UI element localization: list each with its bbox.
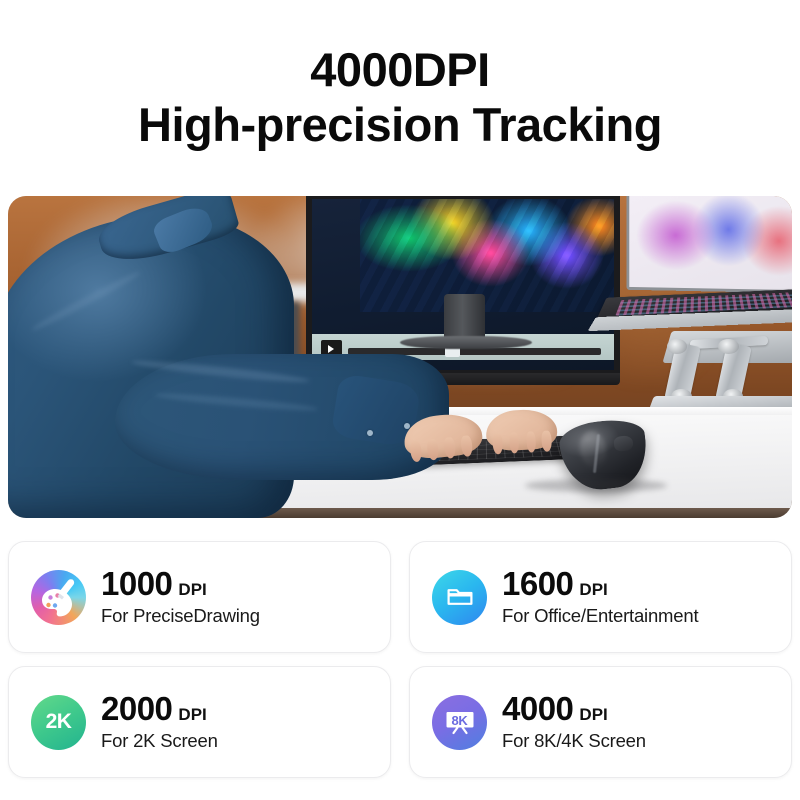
dpi-value: 1600: [502, 566, 573, 602]
palette-brush-icon: [31, 570, 86, 625]
monitor-stand-neck: [444, 294, 485, 342]
desk-scene-illustration: [8, 196, 792, 518]
dpi-subtitle: For 2K Screen: [101, 728, 218, 754]
stand-hinge-icon: [667, 339, 687, 354]
dpi-value: 1000: [101, 566, 172, 602]
dpi-card-1000[interactable]: 1000 DPI For PreciseDrawing: [8, 541, 391, 653]
dpi-card-text: 4000 DPI For 8K/4K Screen: [502, 691, 646, 754]
dpi-value-row: 4000 DPI: [502, 691, 646, 727]
dpi-value-row: 2000 DPI: [101, 691, 218, 727]
dpi-value: 2000: [101, 691, 172, 727]
dpi-unit: DPI: [579, 705, 607, 725]
headline-line-2: High-precision Tracking: [0, 97, 800, 152]
person: [8, 202, 400, 518]
dpi-value-row: 1600 DPI: [502, 566, 698, 602]
dpi-unit: DPI: [178, 580, 206, 600]
palette-brush-glyph: [31, 570, 86, 625]
dpi-value-row: 1000 DPI: [101, 566, 260, 602]
finger: [443, 436, 456, 459]
dpi-subtitle: For Office/Entertainment: [502, 603, 698, 629]
headline-line-1: 4000DPI: [310, 43, 489, 96]
dpi-card-text: 1600 DPI For Office/Entertainment: [502, 566, 698, 629]
2k-badge-icon: 2K: [31, 695, 86, 750]
dpi-card-2000[interactable]: 2K 2000 DPI For 2K Screen: [8, 666, 391, 778]
dpi-card-1600[interactable]: 1600 DPI For Office/Entertainment: [409, 541, 792, 653]
dpi-subtitle: For 8K/4K Screen: [502, 728, 646, 754]
finger: [492, 433, 503, 454]
page-title: 4000DPI High-precision Tracking: [0, 0, 800, 152]
dpi-spec-card-grid: 1000 DPI For PreciseDrawing 1600 DPI For…: [8, 541, 792, 778]
folder-icon: [432, 570, 487, 625]
hero-photo: [8, 196, 792, 518]
dpi-card-text: 2000 DPI For 2K Screen: [101, 691, 218, 754]
8k-monitor-icon: 8K: [432, 695, 487, 750]
monitor-stand-base: [400, 336, 532, 349]
dpi-card-text: 1000 DPI For PreciseDrawing: [101, 566, 260, 629]
dpi-unit: DPI: [579, 580, 607, 600]
dpi-subtitle: For PreciseDrawing: [101, 603, 260, 629]
2k-badge-label: 2K: [46, 710, 72, 734]
laptop-screen: [626, 196, 792, 294]
finger: [509, 432, 520, 453]
finger: [426, 438, 439, 461]
stand-hinge-icon: [718, 339, 738, 354]
dpi-card-4000[interactable]: 8K 4000 DPI For 8K/4K Screen: [409, 666, 792, 778]
laptop: [620, 196, 792, 344]
8k-screen-label: 8K: [451, 713, 467, 728]
dpi-value: 4000: [502, 691, 573, 727]
dpi-unit: DPI: [178, 705, 206, 725]
folder-glyph: [445, 582, 475, 612]
